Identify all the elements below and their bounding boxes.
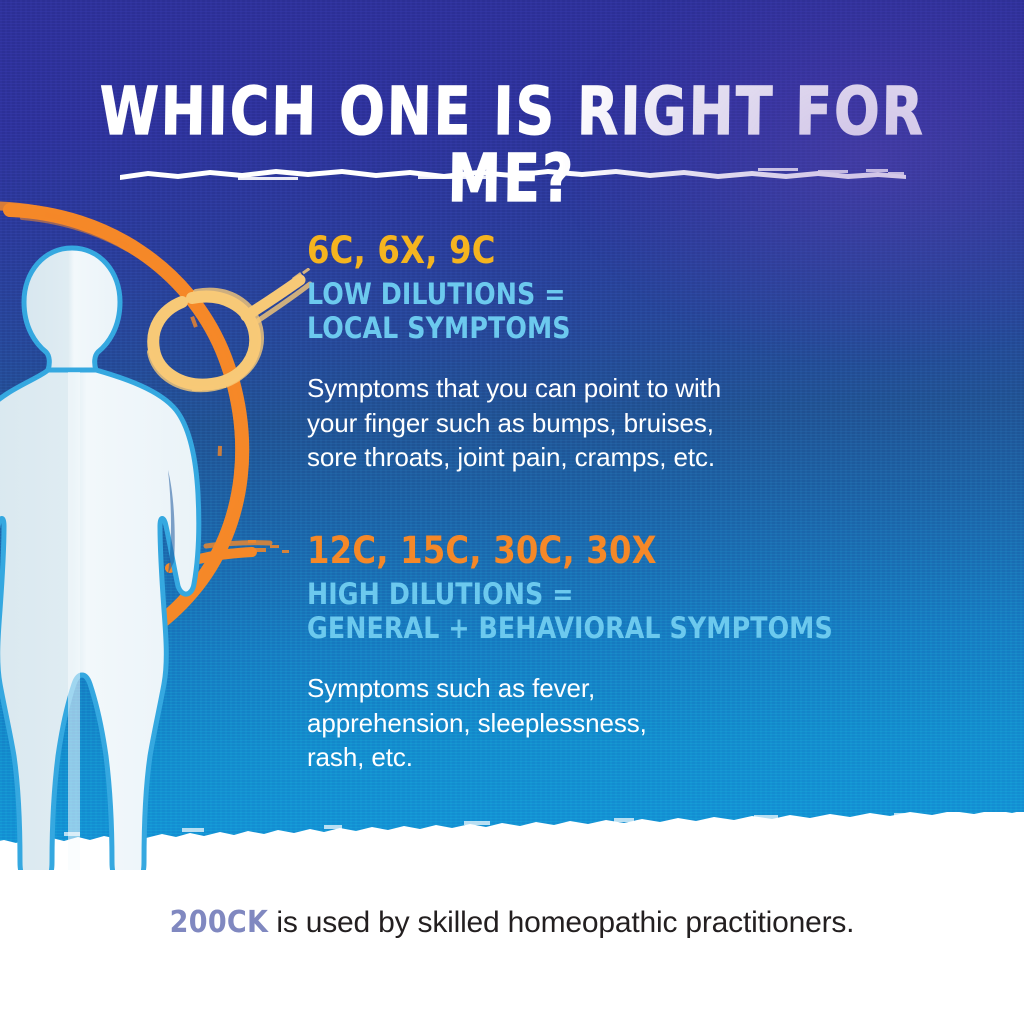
text-block-high-dilutions: 12C, 15C, 30C, 30X HIGH DILUTIONS = GENE… [307, 532, 967, 774]
white-brush-torn-edge [0, 812, 1024, 870]
subhead-high-line-2: GENERAL + BEHAVIORAL SYMPTOMS [307, 611, 947, 645]
subhead-high-line-1: HIGH DILUTIONS = [307, 577, 947, 611]
orange-ring-pointer [170, 540, 289, 568]
body-high: Symptoms such as fever, apprehension, sl… [307, 671, 967, 774]
dose-label-low: 6C, 6X, 9C [307, 232, 947, 271]
subhead-low-line-1: LOW DILUTIONS = [307, 277, 947, 311]
body-low-line-1: Symptoms that you can point to with [307, 371, 967, 405]
dose-label-high: 12C, 15C, 30C, 30X [307, 532, 947, 571]
footer-potency-mark: 200CK [170, 905, 269, 940]
body-high-line-3: rash, etc. [307, 740, 967, 774]
body-low: Symptoms that you can point to with your… [307, 371, 967, 474]
yellow-brush-circle-shoulder [96, 268, 316, 428]
footer-note-text: is used by skilled homeopathic practitio… [268, 906, 854, 939]
text-block-low-dilutions: 6C, 6X, 9C LOW DILUTIONS = LOCAL SYMPTOM… [307, 232, 967, 474]
subhead-low: LOW DILUTIONS = LOCAL SYMPTOMS [307, 277, 947, 345]
page-title: WHICH ONE IS RIGHT FOR ME? [0, 78, 1024, 213]
page-title-text: WHICH ONE IS RIGHT FOR ME? [50, 78, 973, 213]
body-low-line-2: your finger such as bumps, bruises, [307, 406, 967, 440]
white-brush-stroke-rule [118, 166, 908, 183]
human-body-silhouette [0, 232, 252, 870]
blue-painted-background: WHICH ONE IS RIGHT FOR ME? 6C, 6X, 9C LO… [0, 0, 1024, 870]
body-high-line-1: Symptoms such as fever, [307, 671, 967, 705]
orange-brush-circle [0, 196, 320, 716]
infographic-poster: WHICH ONE IS RIGHT FOR ME? 6C, 6X, 9C LO… [0, 0, 1024, 1024]
body-high-line-2: apprehension, sleeplessness, [307, 706, 967, 740]
subhead-low-line-2: LOCAL SYMPTOMS [307, 311, 947, 345]
subhead-high: HIGH DILUTIONS = GENERAL + BEHAVIORAL SY… [307, 577, 947, 645]
body-low-line-3: sore throats, joint pain, cramps, etc. [307, 440, 967, 474]
footer-note: 200CK is used by skilled homeopathic pra… [0, 905, 1024, 940]
